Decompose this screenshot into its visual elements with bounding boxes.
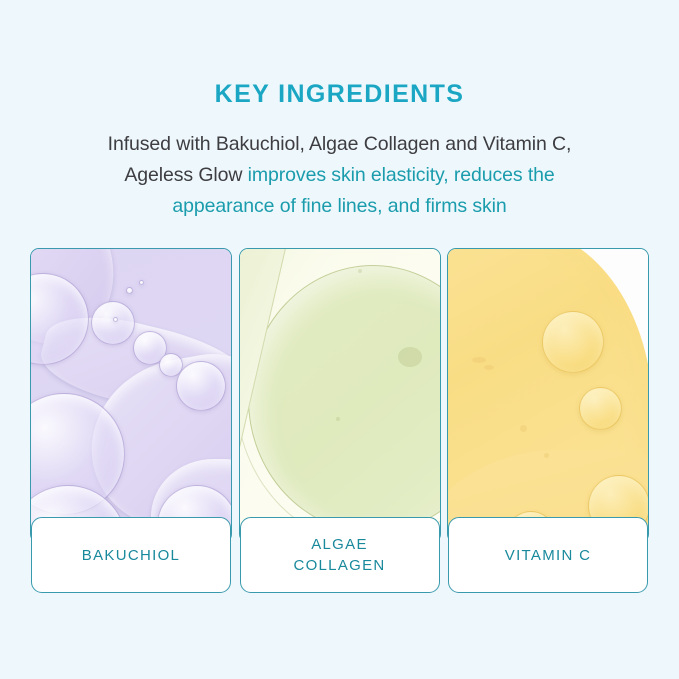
purple-serum-texture — [31, 249, 231, 542]
green-speck — [358, 269, 362, 273]
yellow-serum-texture — [448, 249, 648, 542]
subtitle-benefit-2: appearance of fine lines, and firms skin — [172, 195, 506, 217]
ingredient-label-vitamin-c: VITAMIN C — [448, 517, 648, 593]
ingredient-card-vitamin-c[interactable]: VITAMIN C — [447, 248, 649, 593]
subtitle-line-1: Infused with Bakuchiol, Algae Collagen a… — [108, 133, 572, 155]
subtitle-benefit-1: improves skin elasticity, reduces the — [248, 164, 555, 186]
subtitle-brand: Ageless Glow — [124, 164, 247, 186]
yellow-speck — [472, 357, 486, 363]
green-serum-texture — [240, 249, 440, 542]
purple-bubble — [91, 301, 135, 345]
ingredient-label-text: BAKUCHIOL — [82, 545, 180, 566]
purple-bubble — [176, 361, 226, 411]
green-speck — [336, 417, 340, 421]
swatch-algae-collagen — [239, 248, 441, 543]
ingredient-card-bakuchiol[interactable]: BAKUCHIOL — [30, 248, 232, 593]
header: KEY INGREDIENTS Infused with Bakuchiol, … — [0, 0, 679, 222]
ingredient-card-algae-collagen[interactable]: ALGAE COLLAGEN — [239, 248, 441, 593]
ingredient-label-bakuchiol: BAKUCHIOL — [31, 517, 231, 593]
purple-speck — [126, 287, 133, 294]
subtitle: Infused with Bakuchiol, Algae Collagen a… — [0, 129, 679, 222]
ingredient-label-text: ALGAE COLLAGEN — [293, 534, 385, 576]
swatch-vitamin-c — [447, 248, 649, 543]
green-speck — [398, 347, 422, 367]
ingredient-label-text: VITAMIN C — [505, 545, 591, 566]
yellow-speck — [484, 365, 494, 370]
key-ingredients-panel: KEY INGREDIENTS Infused with Bakuchiol, … — [0, 0, 679, 679]
yellow-bubble — [542, 311, 604, 373]
ingredient-card-row: BAKUCHIOL ALGAE COLLAGEN — [30, 248, 649, 593]
swatch-bakuchiol — [30, 248, 232, 543]
page-title: KEY INGREDIENTS — [0, 82, 679, 107]
yellow-speck — [544, 453, 549, 458]
purple-speck — [139, 280, 144, 285]
yellow-speck — [520, 425, 527, 432]
ingredient-label-algae-collagen: ALGAE COLLAGEN — [240, 517, 440, 593]
purple-speck — [113, 317, 118, 322]
yellow-bubble — [579, 387, 622, 430]
